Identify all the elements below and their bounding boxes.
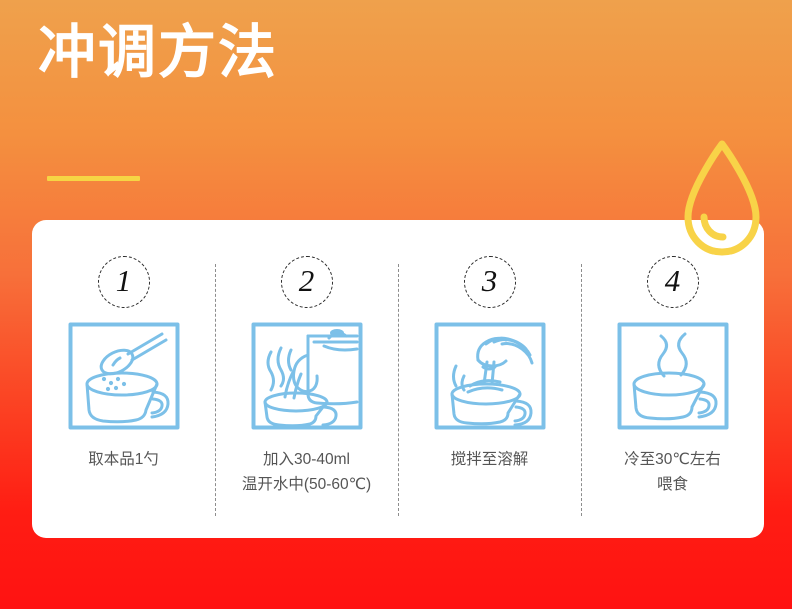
step-item-2: 2 bbox=[215, 220, 398, 538]
title-underline-rule bbox=[47, 176, 140, 181]
step-caption: 搅拌至溶解 bbox=[451, 447, 529, 472]
hand-stirring-cup-icon bbox=[434, 322, 546, 430]
step-number-badge: 3 bbox=[464, 256, 516, 308]
page-title: 冲调方法 bbox=[38, 18, 278, 88]
step-caption-line: 加入30-40ml bbox=[242, 447, 371, 472]
step-item-3: 3 bbox=[398, 220, 581, 538]
steps-card: 1 bbox=[32, 220, 764, 538]
step-caption-line: 冷至30℃左右 bbox=[624, 447, 721, 472]
step-item-4: 4 bbox=[581, 220, 764, 538]
step-number-badge: 2 bbox=[281, 256, 333, 308]
step-caption-line: 喂食 bbox=[624, 472, 721, 497]
step-number-badge: 1 bbox=[98, 256, 150, 308]
step-caption: 取本品1勺 bbox=[88, 447, 159, 472]
step-caption-line: 取本品1勺 bbox=[88, 447, 159, 472]
spoon-powder-into-cup-icon bbox=[68, 322, 180, 430]
step-caption: 加入30-40ml 温开水中(50-60℃) bbox=[242, 447, 371, 497]
step-caption-line: 温开水中(50-60℃) bbox=[242, 472, 371, 497]
step-item-1: 1 bbox=[32, 220, 215, 538]
step-number-badge: 4 bbox=[647, 256, 699, 308]
instruction-panel: 冲调方法 1 bbox=[0, 0, 792, 609]
kettle-pouring-water-icon bbox=[251, 322, 363, 430]
steps-list: 1 bbox=[32, 220, 764, 538]
step-caption-line: 搅拌至溶解 bbox=[451, 447, 529, 472]
steaming-cup-icon bbox=[617, 322, 729, 430]
step-caption: 冷至30℃左右 喂食 bbox=[624, 447, 721, 497]
